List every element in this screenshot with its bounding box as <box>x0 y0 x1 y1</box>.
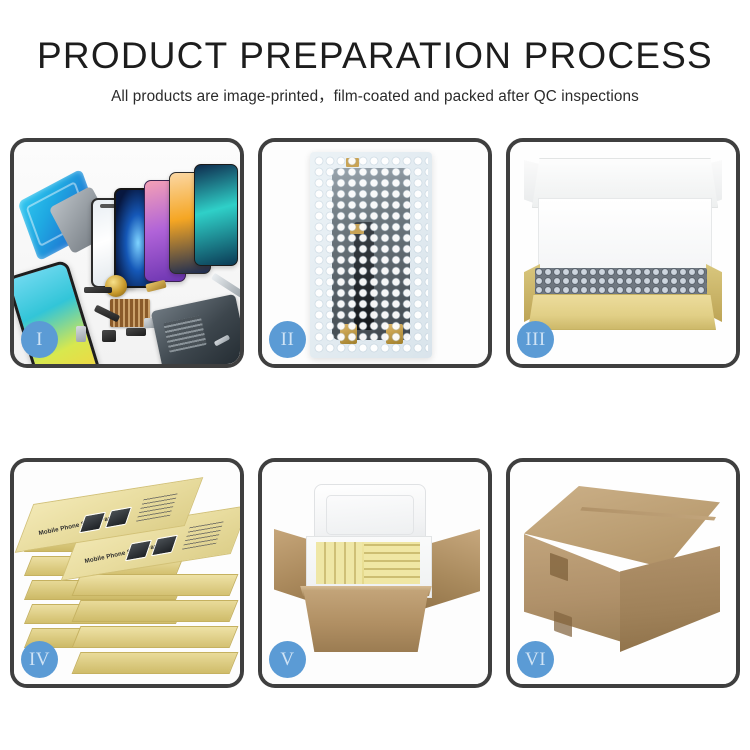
page-subtitle: All products are image-printed，film-coat… <box>0 84 750 106</box>
bubble-wrap-bag <box>310 152 432 358</box>
process-step-4[interactable]: Mobile Phone Spare Parts Mobile Phone Sp… <box>10 458 244 688</box>
process-step-grid: I II III <box>10 138 740 690</box>
carton-front-panel <box>298 590 434 652</box>
step-badge-4: IV <box>21 641 58 678</box>
bubble-texture <box>314 156 428 354</box>
process-step-6[interactable]: VI <box>506 458 740 688</box>
process-step-3[interactable]: III <box>506 138 740 368</box>
stack-box-front-5 <box>72 652 239 674</box>
process-step-5[interactable]: V <box>258 458 492 688</box>
stack-box-front-3 <box>72 600 239 622</box>
inner-boxes-row-right <box>364 542 420 584</box>
step-badge-3: III <box>517 321 554 358</box>
small-metal-part <box>76 326 86 342</box>
speaker-part <box>84 287 112 293</box>
phone-display-teal <box>194 164 238 266</box>
stack-box-front-2 <box>72 574 239 596</box>
camera-lens-part <box>105 275 127 297</box>
box-front-panel <box>528 294 716 330</box>
inner-boxes-group <box>316 542 420 584</box>
antenna-part <box>126 328 146 336</box>
button-part <box>102 330 116 342</box>
foam-sheet <box>538 198 712 272</box>
step-badge-1: I <box>21 321 58 358</box>
process-step-1[interactable]: I <box>10 138 244 368</box>
logic-board-part <box>151 294 244 368</box>
step-badge-5: V <box>269 641 306 678</box>
inner-boxes-row-left <box>316 542 362 584</box>
step-badge-2: II <box>269 321 306 358</box>
carton-right-panel <box>620 546 720 652</box>
step-badge-6: VI <box>517 641 554 678</box>
stack-box-front-4 <box>72 626 239 648</box>
phone-display-large <box>10 259 102 368</box>
page-title: PRODUCT PREPARATION PROCESS <box>0 36 750 75</box>
page-header: PRODUCT PREPARATION PROCESS All products… <box>0 0 750 106</box>
process-step-2[interactable]: II <box>258 138 492 368</box>
